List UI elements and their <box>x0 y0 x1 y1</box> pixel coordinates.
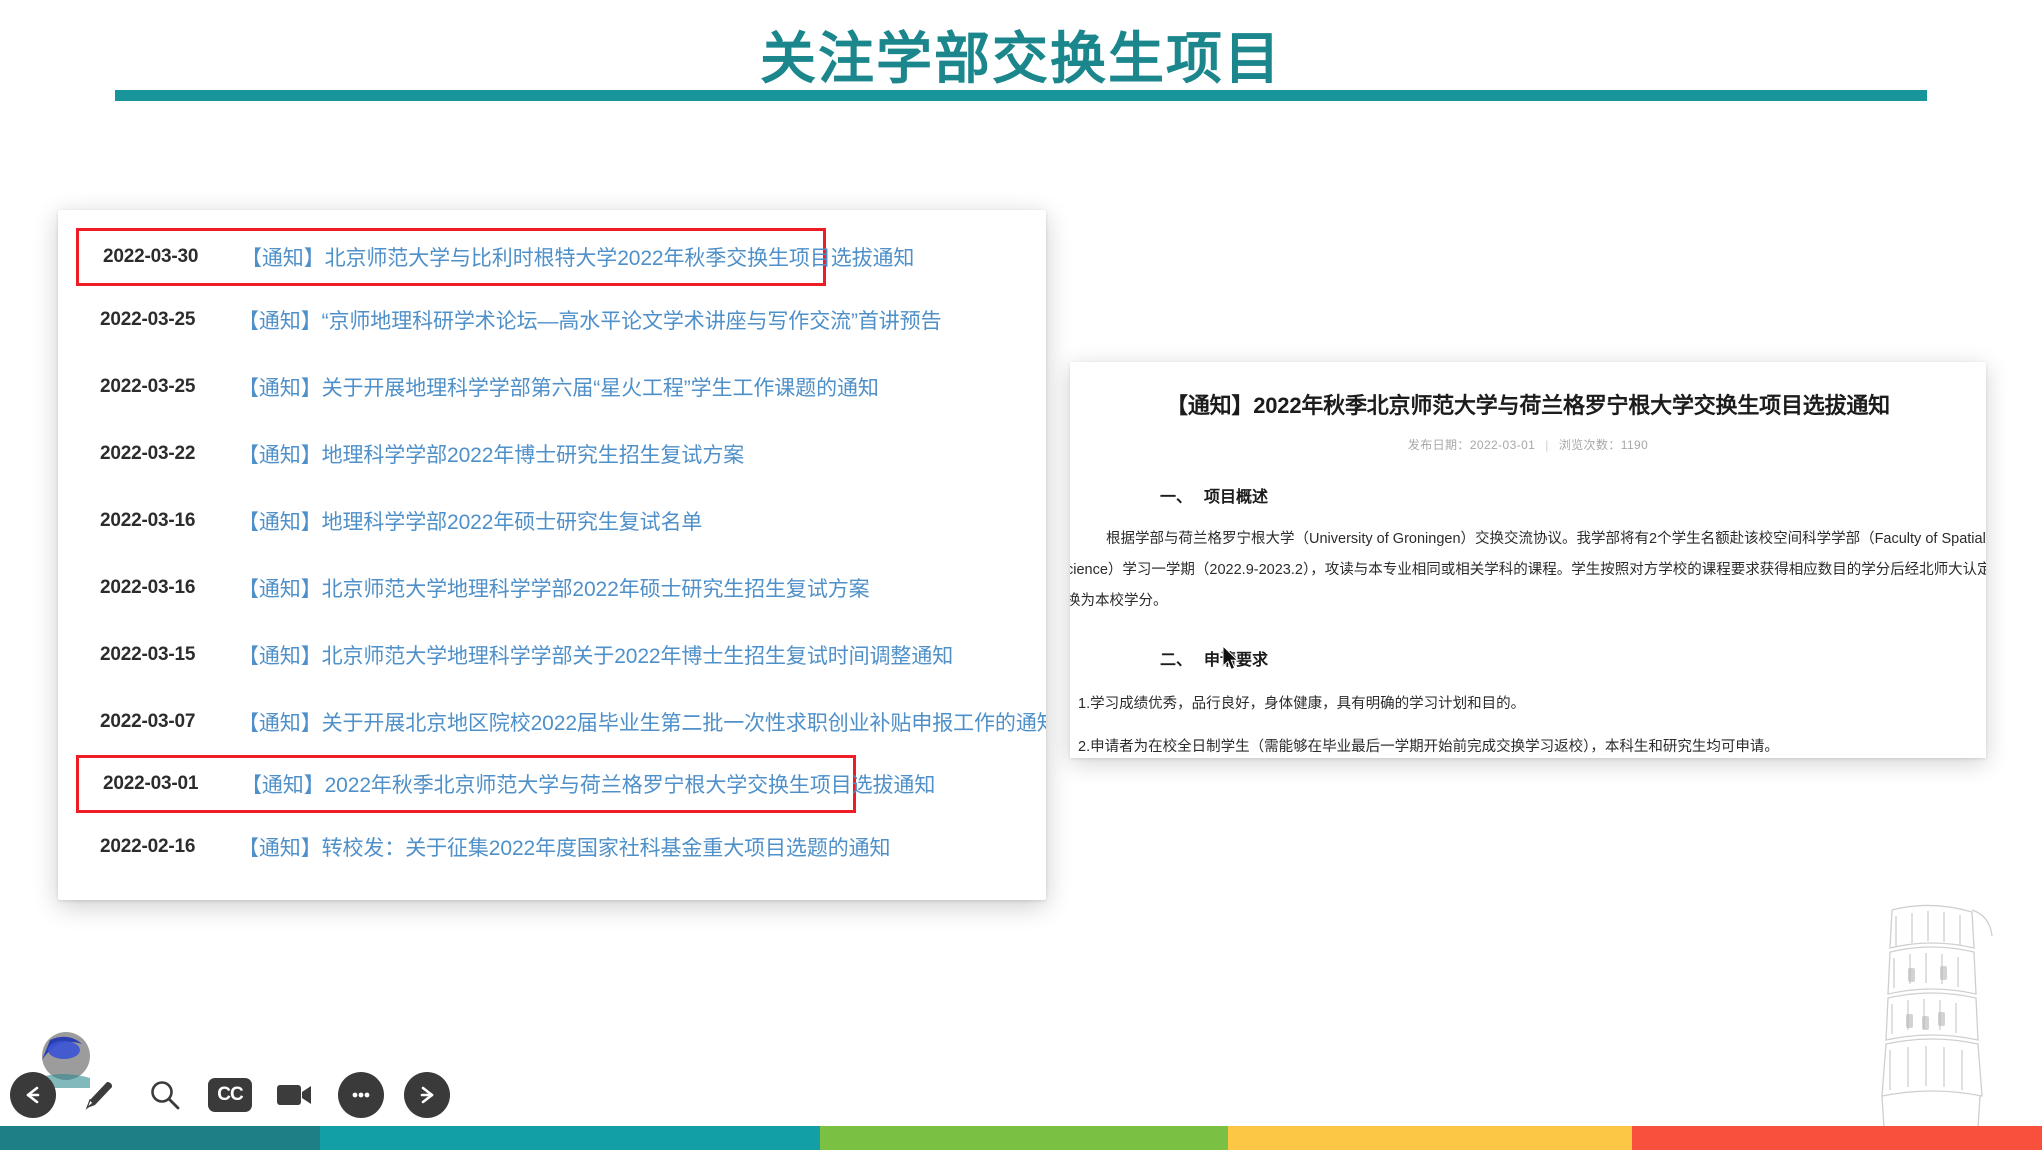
notice-meta: 发布日期：2022-03-01|浏览次数：1190 <box>1070 436 1986 453</box>
news-title-link[interactable]: 【通知】转校发：关于征集2022年度国家社科基金重大项目选题的通知 <box>226 832 1046 862</box>
color-segment-yellow <box>1228 1126 1632 1150</box>
section-heading-one: 一、项目概述 <box>1160 483 1986 507</box>
color-segment-red <box>1632 1126 2042 1150</box>
pen-tool-button[interactable] <box>76 1072 122 1118</box>
news-title-link[interactable]: 【通知】北京师范大学地理科学学部关于2022年博士生招生复试时间调整通知 <box>226 640 1046 670</box>
news-date: 2022-03-01 <box>103 773 229 795</box>
presenter-toolbar[interactable]: CC <box>0 1064 450 1126</box>
table-row[interactable]: 2022-03-01 【通知】2022年秋季北京师范大学与荷兰格罗宁根大学交换生… <box>76 755 856 813</box>
news-title-link[interactable]: 【通知】地理科学学部2022年博士研究生招生复试方案 <box>226 439 1046 469</box>
color-segment-teal <box>320 1126 820 1150</box>
table-row[interactable]: 2022-03-16 【通知】北京师范大学地理科学学部2022年硕士研究生招生复… <box>58 554 1046 621</box>
news-title-link[interactable]: 【通知】关于开展北京地区院校2022届毕业生第二批一次性求职创业补贴申报工作的通… <box>226 707 1046 737</box>
news-date: 2022-03-30 <box>103 246 229 268</box>
news-date: 2022-03-22 <box>100 443 226 465</box>
closed-captions-icon: CC <box>217 1084 242 1106</box>
slide-title: 关注学部交换生项目 <box>0 14 2042 95</box>
magnifier-icon <box>148 1078 182 1112</box>
table-row[interactable]: 2022-02-16 【通知】转校发：关于征集2022年度国家社科基金重大项目选… <box>58 813 1046 880</box>
section-one-paragraph-line-3: 换为本校学分。 <box>1070 587 1986 616</box>
news-date: 2022-03-07 <box>100 711 226 733</box>
news-title-link[interactable]: 【通知】关于开展地理科学学部第六届“星火工程”学生工作课题的通知 <box>226 372 1046 402</box>
table-row[interactable]: 2022-03-16 【通知】地理科学学部2022年硕士研究生复试名单 <box>58 487 1046 554</box>
more-options-button[interactable] <box>338 1072 384 1118</box>
news-title-link[interactable]: 【通知】地理科学学部2022年硕士研究生复试名单 <box>226 506 1046 536</box>
arrow-left-icon <box>20 1082 46 1108</box>
color-segment-green <box>820 1126 1228 1150</box>
publish-date-label: 发布日期： <box>1408 438 1470 452</box>
publish-date-value: 2022-03-01 <box>1470 438 1535 452</box>
notice-title: 【通知】2022年秋季北京师范大学与荷兰格罗宁根大学交换生项目选拔通知 <box>1070 388 1986 420</box>
section-one-paragraph-line-2: cience）学习一学期（2022.9-2023.2），攻读与本专业相同或相关学… <box>1070 556 1986 585</box>
section-one-number: 一、 <box>1160 483 1204 507</box>
video-button[interactable] <box>272 1072 318 1118</box>
views-value: 1190 <box>1621 438 1648 452</box>
table-row[interactable]: 2022-03-30 【通知】北京师范大学与比利时根特大学2022年秋季交换生项… <box>76 228 826 286</box>
table-row[interactable]: 2022-03-22 【通知】地理科学学部2022年博士研究生招生复试方案 <box>58 420 1046 487</box>
news-date: 2022-03-15 <box>100 644 226 666</box>
arrow-right-icon <box>414 1082 440 1108</box>
news-date: 2022-03-16 <box>100 577 226 599</box>
tower-sketch-watermark-icon <box>1822 890 2037 1130</box>
views-label: 浏览次数： <box>1559 438 1621 452</box>
title-underline-rule <box>115 90 1927 101</box>
section-one-title: 项目概述 <box>1204 489 1268 506</box>
zoom-into-slide-button[interactable] <box>142 1072 188 1118</box>
pen-icon <box>82 1078 116 1112</box>
table-row[interactable]: 2022-03-25 【通知】关于开展地理科学学部第六届“星火工程”学生工作课题… <box>58 353 1046 420</box>
section-two-number: 二、 <box>1160 646 1204 670</box>
notice-detail-card: 【通知】2022年秋季北京师范大学与荷兰格罗宁根大学交换生项目选拔通知 发布日期… <box>1070 362 1986 758</box>
news-list-card: 2022-03-30 【通知】北京师范大学与比利时根特大学2022年秋季交换生项… <box>58 210 1046 900</box>
section-one-paragraph-line-1: 根据学部与荷兰格罗宁根大学（University of Groningen）交换… <box>1070 525 1986 554</box>
previous-slide-button[interactable] <box>10 1072 56 1118</box>
requirement-item-2: 2.申请者为在校全日制学生（需能够在毕业最后一学期开始前完成交换学习返校），本科… <box>1070 735 1986 756</box>
news-date: 2022-02-16 <box>100 836 226 858</box>
meta-separator: | <box>1535 438 1559 452</box>
news-date: 2022-03-25 <box>100 309 226 331</box>
next-slide-button[interactable] <box>404 1072 450 1118</box>
color-segment-teal-dark <box>0 1126 320 1150</box>
presentation-slide: 关注学部交换生项目 2022-03-30 【通知】北京师范大学与比利时根特大学2… <box>0 0 2042 1150</box>
news-title-link[interactable]: 【通知】2022年秋季北京师范大学与荷兰格罗宁根大学交换生项目选拔通知 <box>229 769 935 799</box>
section-two-title: 申请要求 <box>1204 652 1268 669</box>
video-camera-icon <box>275 1080 315 1110</box>
news-date: 2022-03-25 <box>100 376 226 398</box>
bottom-color-strip <box>0 1126 2042 1150</box>
requirement-item-1: 1.学习成绩优秀，品行良好，身体健康，具有明确的学习计划和目的。 <box>1070 692 1986 713</box>
news-title-link[interactable]: 【通知】北京师范大学地理科学学部2022年硕士研究生招生复试方案 <box>226 573 1046 603</box>
news-title-link[interactable]: 【通知】北京师范大学与比利时根特大学2022年秋季交换生项目选拔通知 <box>229 242 914 272</box>
section-heading-two: 二、申请要求 <box>1160 646 1986 670</box>
news-date: 2022-03-16 <box>100 510 226 532</box>
subtitles-button[interactable]: CC <box>208 1078 252 1112</box>
table-row[interactable]: 2022-03-25 【通知】“京师地理科研学术论坛—高水平论文学术讲座与写作交… <box>58 286 1046 353</box>
news-title-link[interactable]: 【通知】“京师地理科研学术论坛—高水平论文学术讲座与写作交流”首讲预告 <box>226 305 1046 335</box>
table-row[interactable]: 2022-03-07 【通知】关于开展北京地区院校2022届毕业生第二批一次性求… <box>58 688 1046 755</box>
ellipsis-icon <box>348 1082 374 1108</box>
news-list: 2022-03-30 【通知】北京师范大学与比利时根特大学2022年秋季交换生项… <box>58 210 1046 900</box>
table-row[interactable]: 2022-03-15 【通知】北京师范大学地理科学学部关于2022年博士生招生复… <box>58 621 1046 688</box>
